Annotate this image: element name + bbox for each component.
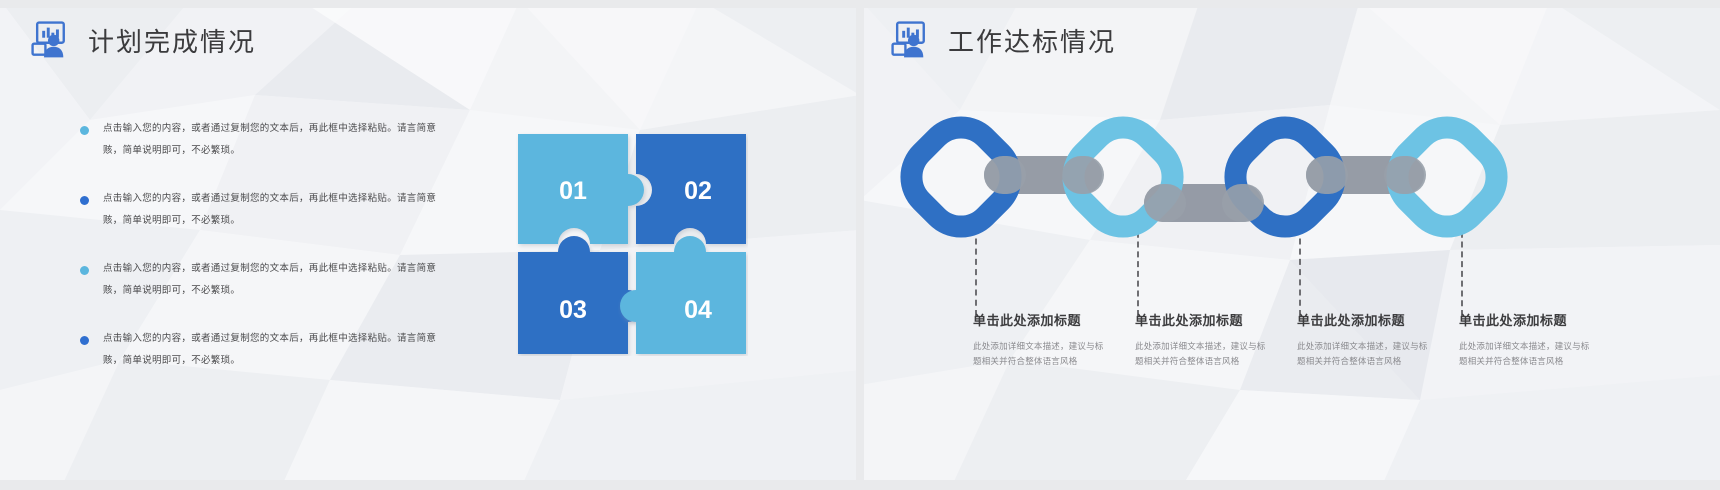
chain-connectors: [984, 156, 1424, 222]
left-slide-header: 计划完成情况: [28, 18, 256, 62]
caption-body: 此处添加详细文本描述，建议与标题相关并符合整体语言风格: [1135, 339, 1273, 369]
caption-title: 单击此处添加标题: [973, 310, 1135, 329]
bullet-dot-icon: [80, 336, 89, 345]
list-item-text: 点击输入您的内容，或者通过复制您的文本后，再此框中选择粘贴。请言简意赅，简单说明…: [103, 188, 440, 232]
caption-block[interactable]: 单击此处添加标题 此处添加详细文本描述，建议与标题相关并符合整体语言风格: [973, 310, 1135, 369]
background-polygon-texture: [860, 0, 1720, 490]
chain-diagram: [886, 112, 1526, 242]
presentation-person-icon: [28, 18, 72, 62]
slide-pair-canvas: 计划完成情况 点击输入您的内容，或者通过复制您的文本后，再此框中选择粘贴。请言简…: [0, 0, 1720, 490]
bullet-dot-icon: [80, 266, 89, 275]
slide-top-edge: [0, 0, 860, 8]
puzzle-label-04: 04: [684, 296, 712, 324]
slide-top-edge: [860, 0, 1720, 8]
caption-title: 单击此处添加标题: [1135, 310, 1297, 329]
list-item[interactable]: 点击输入您的内容，或者通过复制您的文本后，再此框中选择粘贴。请言简意赅，简单说明…: [80, 258, 440, 302]
slide-divider: [856, 0, 864, 490]
list-item-text: 点击输入您的内容，或者通过复制您的文本后，再此框中选择粘贴。请言简意赅，简单说明…: [103, 118, 440, 162]
caption-block[interactable]: 单击此处添加标题 此处添加详细文本描述，建议与标题相关并符合整体语言风格: [1459, 310, 1621, 369]
caption-body: 此处添加详细文本描述，建议与标题相关并符合整体语言风格: [973, 339, 1111, 369]
caption-title: 单击此处添加标题: [1297, 310, 1459, 329]
left-bullet-list: 点击输入您的内容，或者通过复制您的文本后，再此框中选择粘贴。请言简意赅，简单说明…: [80, 118, 440, 398]
slide-bottom-edge: [860, 480, 1720, 490]
page-title: 工作达标情况: [948, 22, 1116, 59]
slide-left: 计划完成情况 点击输入您的内容，或者通过复制您的文本后，再此框中选择粘贴。请言简…: [0, 0, 860, 490]
right-slide-header: 工作达标情况: [888, 18, 1116, 62]
list-item-text: 点击输入您的内容，或者通过复制您的文本后，再此框中选择粘贴。请言简意赅，简单说明…: [103, 258, 440, 302]
list-item[interactable]: 点击输入您的内容，或者通过复制您的文本后，再此框中选择粘贴。请言简意赅，简单说明…: [80, 118, 440, 162]
puzzle-diagram: 01 02 03 04: [516, 132, 748, 356]
caption-title: 单击此处添加标题: [1459, 310, 1621, 329]
caption-block[interactable]: 单击此处添加标题 此处添加详细文本描述，建议与标题相关并符合整体语言风格: [1297, 310, 1459, 369]
list-item[interactable]: 点击输入您的内容，或者通过复制您的文本后，再此框中选择粘贴。请言简意赅，简单说明…: [80, 328, 440, 372]
puzzle-label-03: 03: [559, 296, 587, 324]
bullet-dot-icon: [80, 196, 89, 205]
caption-body: 此处添加详细文本描述，建议与标题相关并符合整体语言风格: [1297, 339, 1435, 369]
list-item[interactable]: 点击输入您的内容，或者通过复制您的文本后，再此框中选择粘贴。请言简意赅，简单说明…: [80, 188, 440, 232]
page-title: 计划完成情况: [88, 22, 256, 59]
caption-row: 单击此处添加标题 此处添加详细文本描述，建议与标题相关并符合整体语言风格 单击此…: [868, 310, 1708, 369]
slide-bottom-edge: [0, 480, 860, 490]
caption-block[interactable]: 单击此处添加标题 此处添加详细文本描述，建议与标题相关并符合整体语言风格: [1135, 310, 1297, 369]
puzzle-piece-04: [620, 236, 746, 354]
list-item-text: 点击输入您的内容，或者通过复制您的文本后，再此框中选择粘贴。请言简意赅，简单说明…: [103, 328, 440, 372]
slide-right: 工作达标情况: [860, 0, 1720, 490]
bullet-dot-icon: [80, 126, 89, 135]
caption-body: 此处添加详细文本描述，建议与标题相关并符合整体语言风格: [1459, 339, 1597, 369]
presentation-person-icon: [888, 18, 932, 62]
puzzle-label-01: 01: [559, 177, 587, 205]
puzzle-label-02: 02: [684, 177, 712, 205]
